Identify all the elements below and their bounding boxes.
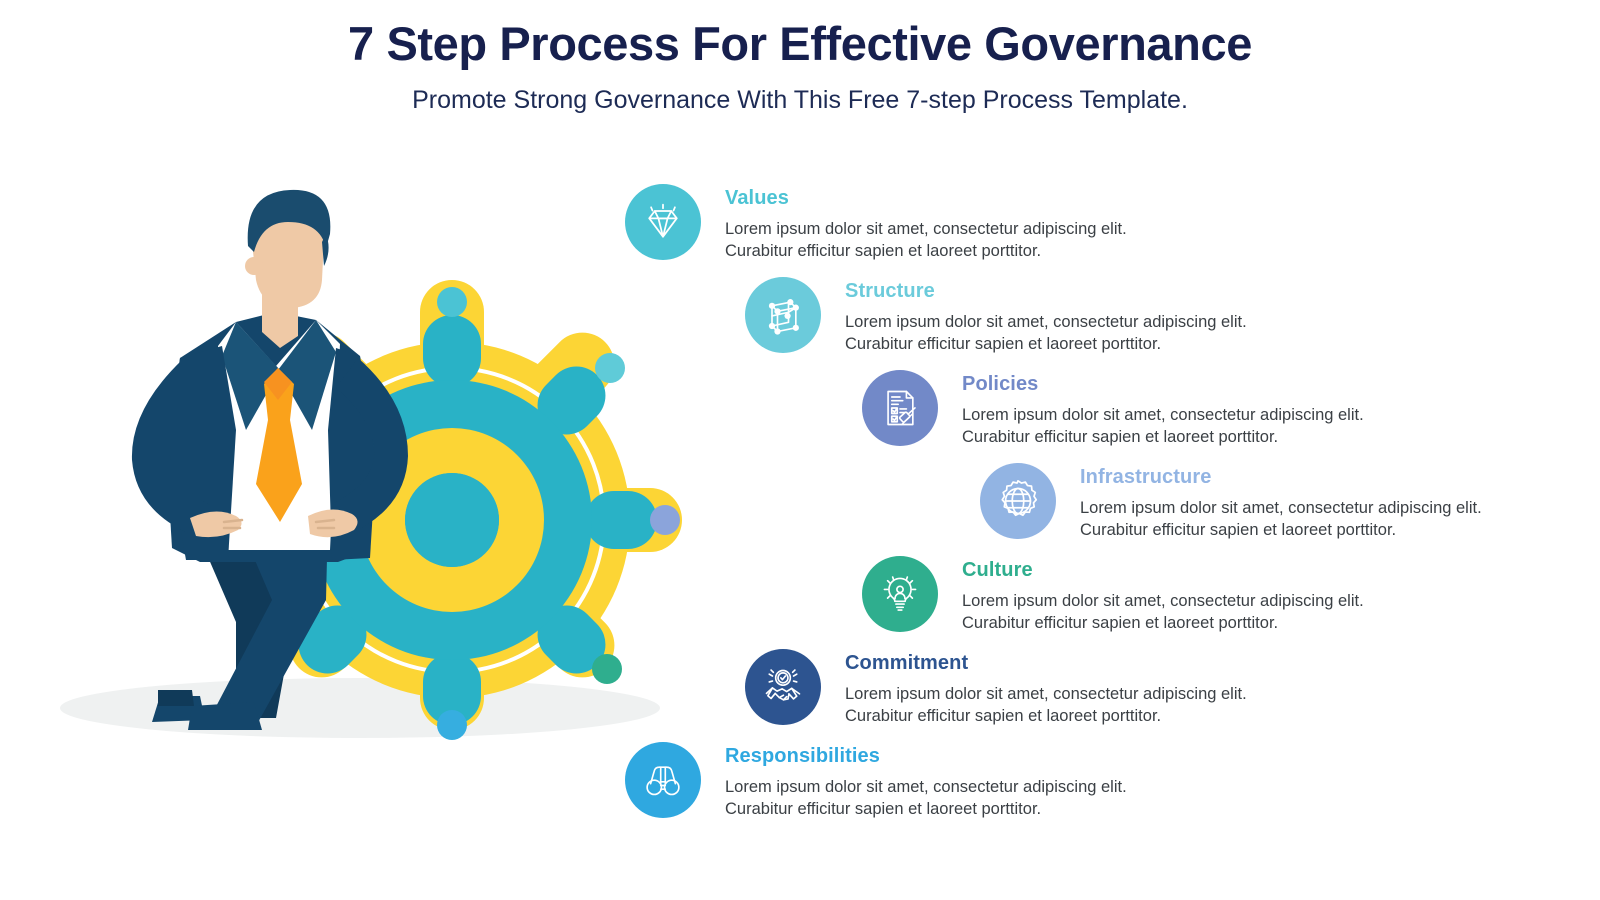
page-subtitle: Promote Strong Governance With This Free… (0, 85, 1600, 115)
step-description-responsibilities: Lorem ipsum dolor sit amet, consectetur … (725, 776, 1127, 821)
step-title-culture: Culture (962, 560, 1364, 580)
step-title-commitment: Commitment (845, 653, 1247, 673)
step-item-policies[interactable]: Policies Lorem ipsum dolor sit amet, con… (862, 366, 1364, 449)
step-description-policies: Lorem ipsum dolor sit amet, consectetur … (962, 404, 1364, 449)
step-item-commitment[interactable]: Commitment Lorem ipsum dolor sit amet, c… (745, 645, 1247, 728)
step-title-structure: Structure (845, 281, 1247, 301)
slide-header: 7 Step Process For Effective Governance … (0, 0, 1600, 115)
handshake-check-icon (761, 665, 805, 709)
step-text-values: Values Lorem ipsum dolor sit amet, conse… (725, 180, 1127, 263)
page-title: 7 Step Process For Effective Governance (0, 18, 1600, 71)
step-text-policies: Policies Lorem ipsum dolor sit amet, con… (962, 366, 1364, 449)
step-icon-circle-infrastructure (980, 463, 1056, 539)
step-item-responsibilities[interactable]: Responsibilities Lorem ipsum dolor sit a… (625, 738, 1127, 821)
step-icon-circle-policies (862, 370, 938, 446)
document-gavel-icon (878, 386, 922, 430)
step-text-structure: Structure Lorem ipsum dolor sit amet, co… (845, 273, 1247, 356)
step-icon-circle-responsibilities (625, 742, 701, 818)
diamond-icon (641, 200, 685, 244)
lightbulb-person-icon (878, 572, 922, 616)
step-item-structure[interactable]: Structure Lorem ipsum dolor sit amet, co… (745, 273, 1247, 356)
binoculars-icon (641, 758, 685, 802)
step-title-values: Values (725, 188, 1127, 208)
step-icon-circle-structure (745, 277, 821, 353)
step-description-infrastructure: Lorem ipsum dolor sit amet, consectetur … (1080, 497, 1482, 542)
step-icon-circle-culture (862, 556, 938, 632)
step-title-policies: Policies (962, 374, 1364, 394)
step-text-responsibilities: Responsibilities Lorem ipsum dolor sit a… (725, 738, 1127, 821)
step-description-structure: Lorem ipsum dolor sit amet, consectetur … (845, 311, 1247, 356)
step-icon-circle-commitment (745, 649, 821, 725)
step-text-commitment: Commitment Lorem ipsum dolor sit amet, c… (845, 645, 1247, 728)
step-description-commitment: Lorem ipsum dolor sit amet, consectetur … (845, 683, 1247, 728)
step-text-infrastructure: Infrastructure Lorem ipsum dolor sit ame… (1080, 459, 1482, 542)
step-title-infrastructure: Infrastructure (1080, 467, 1482, 487)
step-item-infrastructure[interactable]: Infrastructure Lorem ipsum dolor sit ame… (980, 459, 1482, 542)
step-item-culture[interactable]: Culture Lorem ipsum dolor sit amet, cons… (862, 552, 1364, 635)
network-nodes-icon (761, 293, 805, 337)
step-description-values: Lorem ipsum dolor sit amet, consectetur … (725, 218, 1127, 263)
steps-list: Values Lorem ipsum dolor sit amet, conse… (0, 170, 1600, 850)
step-description-culture: Lorem ipsum dolor sit amet, consectetur … (962, 590, 1364, 635)
step-title-responsibilities: Responsibilities (725, 746, 1127, 766)
step-icon-circle-values (625, 184, 701, 260)
step-text-culture: Culture Lorem ipsum dolor sit amet, cons… (962, 552, 1364, 635)
step-item-values[interactable]: Values Lorem ipsum dolor sit amet, conse… (625, 180, 1127, 263)
globe-gear-icon (995, 478, 1041, 524)
